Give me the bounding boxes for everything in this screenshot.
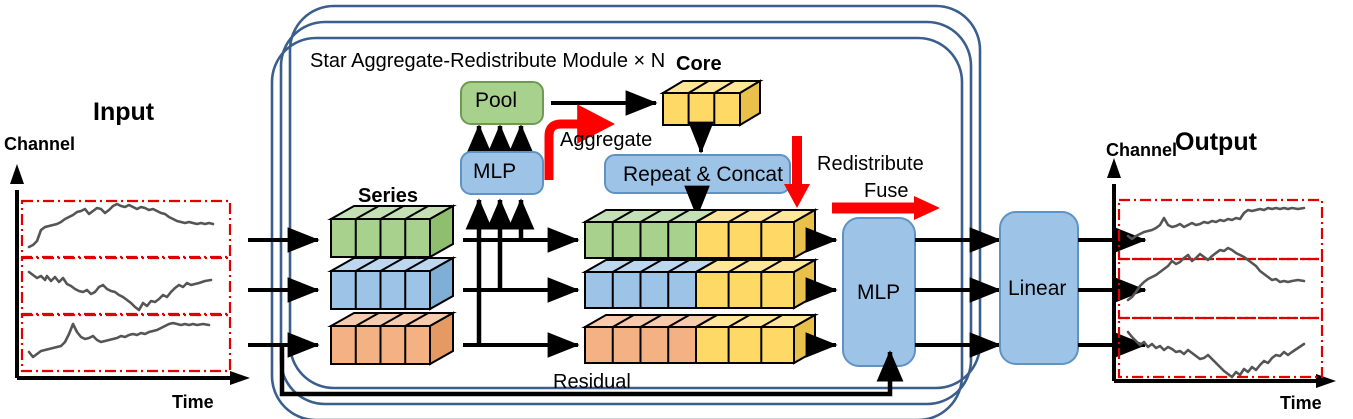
- redistribute-label: Redistribute: [817, 153, 924, 176]
- linear-label: Linear: [1008, 277, 1066, 301]
- output-channel-box-2: [1119, 259, 1322, 318]
- fuse-label: Fuse: [864, 180, 908, 203]
- mlp-top-label: MLP: [473, 160, 516, 184]
- output-signals: [1128, 208, 1304, 377]
- series-row-green: [331, 206, 453, 257]
- series-row-blue: [331, 258, 453, 309]
- concat-row-blue: [585, 260, 815, 308]
- output-x-axis-label: Time: [1280, 393, 1322, 414]
- output-x-arrowhead: [1316, 374, 1336, 388]
- input-to-series-arrows: [248, 240, 318, 345]
- concat-to-mlp-arrows: [818, 240, 836, 345]
- output-signal-3: [1128, 332, 1304, 377]
- output-y-arrowhead: [1107, 158, 1121, 178]
- concat-row-orange: [585, 315, 815, 363]
- core-cubes: [663, 81, 760, 125]
- input-y-axis-label: Channel: [4, 134, 75, 155]
- mlp-to-pool-arrows: [479, 126, 521, 150]
- pool-label: Pool: [475, 89, 517, 113]
- mlp-to-linear-arrows: [915, 240, 1000, 345]
- series-label: Series: [358, 185, 418, 208]
- input-x-arrowhead: [230, 371, 250, 385]
- repeat-concat-label: Repeat & Concat: [623, 163, 783, 187]
- input-signals: [29, 204, 213, 357]
- aggregate-label: Aggregate: [560, 129, 652, 152]
- module-title: Star Aggregate-Redistribute Module × N: [310, 50, 665, 73]
- output-title: Output: [1175, 128, 1257, 157]
- series-row-orange: [331, 313, 453, 364]
- input-channel-boxes: [22, 201, 230, 371]
- input-channel-box-1: [22, 201, 230, 257]
- input-signal-1: [29, 204, 213, 247]
- mlp-fuse-label: MLP: [857, 281, 900, 305]
- input-y-arrowhead: [10, 164, 24, 184]
- diagram-root: Input Channel Time Star Aggregate-Redist…: [0, 0, 1353, 419]
- input-title: Input: [93, 98, 154, 127]
- core-label: Core: [676, 53, 722, 76]
- concat-row-green: [585, 210, 815, 258]
- input-channel-box-2: [22, 258, 230, 314]
- residual-label: Residual: [553, 371, 631, 394]
- output-axes: [1114, 184, 1328, 381]
- input-x-axis-label: Time: [172, 392, 214, 413]
- output-channel-boxes: [1119, 200, 1322, 377]
- output-y-axis-label: Channel: [1106, 140, 1177, 161]
- input-signal-2: [29, 272, 211, 310]
- output-signal-1: [1128, 208, 1304, 239]
- mlp-input-arrows: [479, 200, 521, 345]
- input-signal-3: [29, 323, 209, 357]
- output-signal-2: [1128, 248, 1304, 300]
